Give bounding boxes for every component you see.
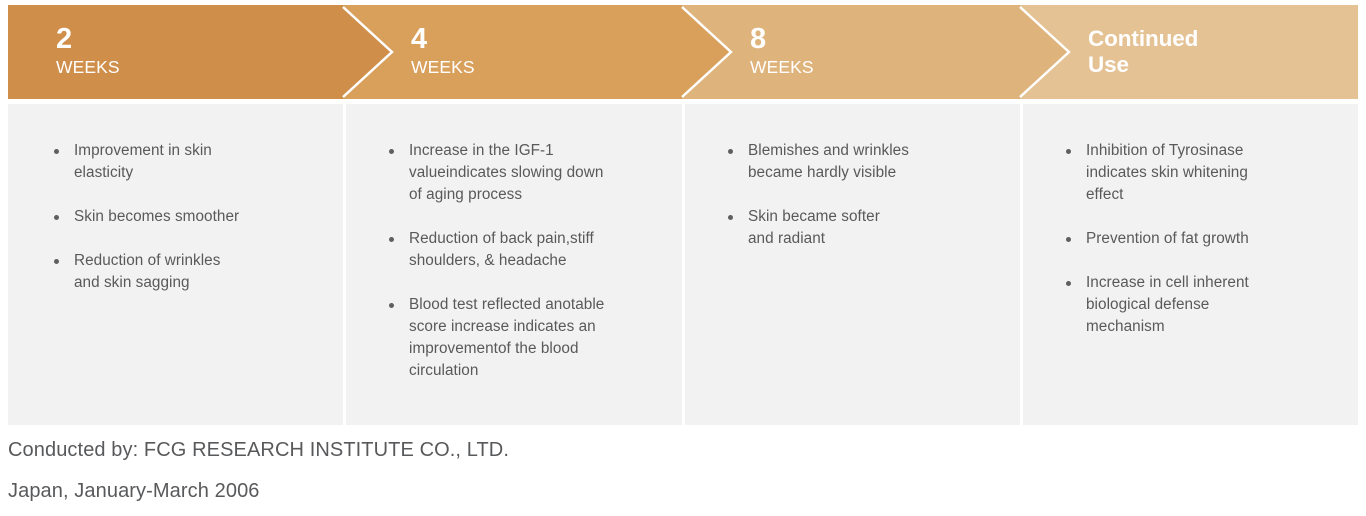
bullet-list-4: Inhibition of Tyrosinase indicates skin … <box>1064 140 1342 338</box>
stage-header-2-weeks: 2 WEEKS <box>8 5 343 99</box>
stage-1-unit: WEEKS <box>56 57 120 79</box>
stage-3-unit: WEEKS <box>750 57 814 79</box>
stage-body-panel: Improvement in skin elasticity Skin beco… <box>8 104 1358 425</box>
list-item: Reduction of back pain,stiff shoulders, … <box>387 228 666 272</box>
list-item: Blood test reflected anotable score incr… <box>387 294 666 382</box>
stage-1-label-wrap: 2 WEEKS <box>8 5 120 99</box>
list-item: Inhibition of Tyrosinase indicates skin … <box>1064 140 1342 206</box>
stage-3-label-wrap: 8 WEEKS <box>682 5 814 99</box>
list-item: Increase in the IGF-1 valueindicates slo… <box>387 140 666 206</box>
stage-header-8-weeks: 8 WEEKS <box>682 5 1020 99</box>
list-item: Improvement in skin elasticity <box>52 140 327 184</box>
list-item: Reduction of wrinkles and skin sagging <box>52 250 327 294</box>
stage-2-label-wrap: 4 WEEKS <box>343 5 475 99</box>
stage-4-label-wrap: Continued Use <box>1020 5 1198 99</box>
list-item: Skin became softer and radiant <box>726 206 1004 250</box>
list-item: Skin becomes smoother <box>52 206 327 228</box>
bullet-list-3: Blemishes and wrinkles became hardly vis… <box>726 140 1004 250</box>
footer-attribution: Conducted by: FCG RESEARCH INSTITUTE CO.… <box>8 440 1348 501</box>
stage-body-8-weeks: Blemishes and wrinkles became hardly vis… <box>682 104 1020 425</box>
stage-4-title: Continued Use <box>1088 26 1198 78</box>
stage-1-number: 2 <box>56 25 120 55</box>
bullet-list-2: Increase in the IGF-1 valueindicates slo… <box>387 140 666 382</box>
stage-body-continued-use: Inhibition of Tyrosinase indicates skin … <box>1020 104 1358 425</box>
list-item: Increase in cell inherent biological def… <box>1064 272 1342 338</box>
stage-body-4-weeks: Increase in the IGF-1 valueindicates slo… <box>343 104 682 425</box>
stage-header-band: 2 WEEKS 4 WEEKS 8 WEEKS <box>8 5 1358 99</box>
study-timeline-infographic: 2 WEEKS 4 WEEKS 8 WEEKS <box>0 0 1366 516</box>
stage-2-number: 4 <box>411 25 475 55</box>
stage-body-2-weeks: Improvement in skin elasticity Skin beco… <box>8 104 343 425</box>
footer-conducted-by: Conducted by: FCG RESEARCH INSTITUTE CO.… <box>8 440 1348 460</box>
list-item: Blemishes and wrinkles became hardly vis… <box>726 140 1004 184</box>
stage-header-4-weeks: 4 WEEKS <box>343 5 682 99</box>
stage-2-unit: WEEKS <box>411 57 475 79</box>
bullet-list-1: Improvement in skin elasticity Skin beco… <box>52 140 327 294</box>
footer-location-date: Japan, January-March 2006 <box>8 481 1348 501</box>
list-item: Prevention of fat growth <box>1064 228 1342 250</box>
stage-header-continued-use: Continued Use <box>1020 5 1358 99</box>
stage-3-number: 8 <box>750 25 814 55</box>
